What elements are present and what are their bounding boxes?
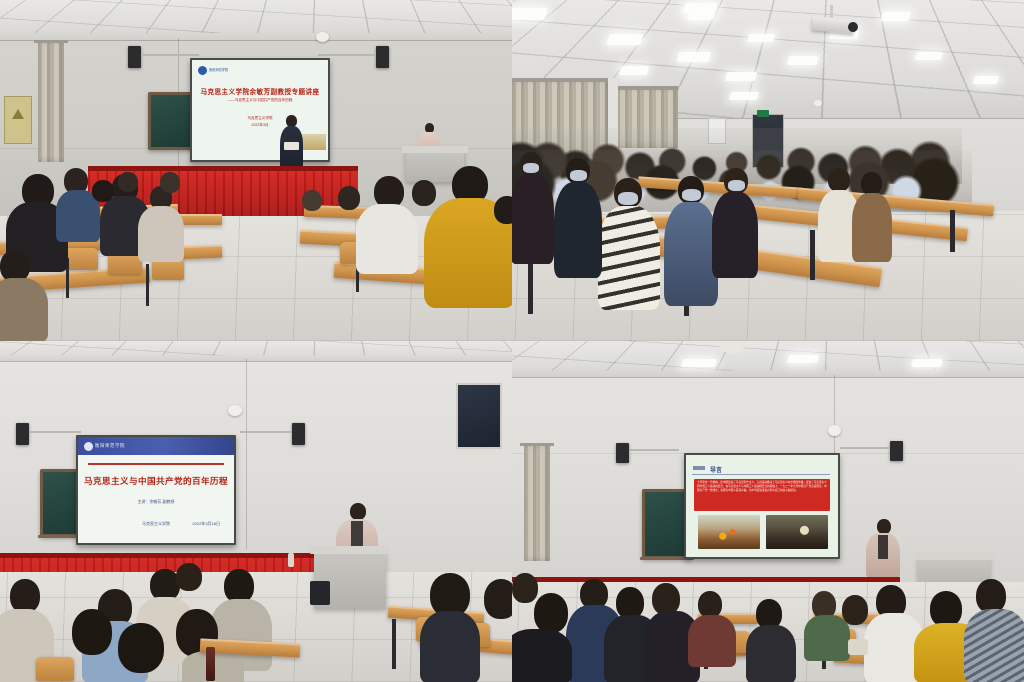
photo-panel-top-right [512,0,1024,341]
student-head [861,172,882,195]
audience-body [746,625,796,682]
speaker-arm-left [29,431,81,433]
ceiling-light [681,359,717,367]
bag-on-floor [310,581,330,605]
photo-panel-bottom-left: 衡阳师范学院 马克思主义与中国共产党的百年历程 主讲：余敏芳 副教授 马克思主义… [0,341,512,682]
face-mask-icon [618,192,638,205]
audience-head-long-hair [72,609,112,655]
photo-panel-top-left: 衡阳师范学院 马克思主义学院余敏芳副教授专题讲座 ——马克思主义与中国共产党的百… [0,0,512,341]
stage-edge [0,553,320,558]
slide-presenter: 主讲：余敏芳 副教授 [78,499,234,505]
ceiling-light [915,52,943,60]
audience-head [118,172,138,192]
wall-speaker-left [128,46,141,68]
ceiling-light [973,76,999,84]
face-mask-icon [682,189,701,201]
lectern-top [310,546,390,554]
slide-red-textbox: 十月革命一声炮响，给中国送来了马克思列宁主义。五四运动推动了马克思主义在中国的传… [694,479,830,511]
lectern-top [914,553,994,560]
dark-window [456,383,502,449]
chair-back [36,657,74,681]
student-body [554,182,602,278]
wall-speaker-left [16,423,29,445]
speaker-arm-right [840,447,890,449]
audience-head [976,579,1006,613]
desk-leg [392,619,396,669]
student-head [828,168,850,192]
audience-head [10,579,40,613]
ceiling-dome-camera [228,405,242,416]
bag-on-desk [848,639,868,655]
ceiling-light [687,12,715,20]
chair-back [64,248,98,270]
slide-image-right [766,515,828,549]
presenter-head [350,503,366,520]
student-body [512,174,554,264]
slide-surface: 导言 十月革命一声炮响，给中国送来了马克思列宁主义。五四运动推动了马克思主义在中… [686,455,838,557]
audience-head [176,563,202,591]
audience-head [512,573,538,603]
audience-head [412,180,436,206]
audience-head [224,569,254,603]
slide-org: 马克思主义学院 [192,116,328,121]
ceiling-light [619,66,650,75]
ceiling-light [787,56,820,65]
projection-screen: 衡阳师范学院 马克思主义学院余敏芳副教授专题讲座 ——马克思主义与中国共产党的百… [190,58,330,162]
wall-speaker-right [292,423,305,445]
slide-surface: 衡阳师范学院 马克思主义学院余敏芳副教授专题讲座 ——马克思主义与中国共产党的百… [192,60,328,160]
ceiling-grid [0,0,512,33]
ceiling-light [911,359,943,367]
warning-triangle-icon [12,109,24,119]
wall-seam [512,377,1024,378]
student-body [664,202,718,306]
audience-body [420,611,480,682]
desk-leg [146,264,149,306]
slide-title: 马克思主义学院余敏芳副教授专题讲座 [192,86,328,96]
ceiling-grid [0,341,512,356]
ceiling-light [677,52,712,62]
front-student-navy [554,158,602,278]
ceiling [0,341,512,361]
audience-head-long-hair [118,623,164,673]
slide-heading-marker [693,466,705,470]
desk-leg [810,230,815,280]
mid-student-brown [852,172,892,262]
chalkboard-surface [645,492,689,556]
slide-image-left [698,515,760,549]
speaker-arm-right [240,431,292,433]
desk-leg [950,210,955,252]
audience-body [138,206,184,262]
ceiling-light [729,92,759,100]
slide-header-text: 衡阳师范学院 [95,443,125,449]
ceiling-dome-camera [316,32,329,42]
audience-head [160,172,180,193]
ceiling-light [881,12,912,21]
slide-surface: 衡阳师范学院 马克思主义与中国共产党的百年历程 主讲：余敏芳 副教授 马克思主义… [78,437,234,543]
wall-seam [0,361,512,362]
front-student-denim [664,176,718,306]
slide-footer-date: 2022年3月18日 [192,521,220,527]
audience-body [804,615,850,661]
face-mask-icon [728,180,745,191]
desk-leg [528,256,533,314]
audience-head [930,591,962,627]
audience-body [512,629,572,682]
university-emblem-icon [84,442,93,451]
audience-body [964,609,1024,682]
front-student-dark [712,168,758,278]
ceiling-light [725,72,758,81]
audience-head [484,579,512,619]
ceiling-light [606,34,643,45]
lectern-top [402,146,468,153]
ceiling-light [747,34,775,42]
student-body [852,193,892,262]
audience-head [92,180,114,202]
presenter-papers [284,142,299,150]
speaker-arm-right [318,54,376,56]
presenter-standing [866,519,900,579]
beige-curtain [38,40,64,162]
projection-screen: 衡阳师范学院 马克思主义与中国共产党的百年历程 主讲：余敏芳 副教授 马克思主义… [76,435,236,545]
audience-body [0,278,48,341]
curtain-rail [520,443,554,446]
audience-body [688,615,736,667]
front-student-maroon [512,152,554,264]
slide-heading: 导言 [710,465,722,474]
wall-seam [0,40,512,41]
slide-subtitle: ——马克思主义与中国共产党的百年历程 [192,98,328,103]
curtain-rail [34,40,68,43]
photo-collage: 衡阳师范学院 马克思主义学院余敏芳副教授专题讲座 ——马克思主义与中国共产党的百… [0,0,1024,682]
presenter-shirt [878,535,888,559]
slide-logo-text: 衡阳师范学院 [209,67,228,72]
university-emblem-icon [198,66,207,75]
beige-curtain [524,443,550,561]
wall-joint [246,359,247,549]
wall-sensor-icon [814,100,822,106]
ceiling-dome-camera [828,425,841,436]
ceiling-light [512,8,548,20]
ceiling-light [787,355,819,363]
audience-head [338,186,360,210]
ceiling [0,0,512,40]
ceiling [512,341,1024,377]
speaker-arm-left [141,54,199,56]
wall-speaker-left [616,443,629,463]
presenter-shirt [351,521,363,547]
audience-head [698,591,722,618]
audience-head-long-hair [534,593,568,633]
thermos-bottle [206,647,215,681]
face-mask-icon [523,163,539,173]
audience-head [494,196,512,224]
speaker-arm-left [629,449,679,451]
presenter-centre [278,115,304,170]
audience-body [356,204,418,274]
slide-date: 2022年3月 [192,123,328,128]
wall-speaker-right [376,46,389,68]
stage-edge [88,166,358,171]
audience-head [842,595,868,625]
fire-cabinet [4,96,32,144]
slide-title: 马克思主义与中国共产党的百年历程 [78,475,234,487]
audience-head [302,190,322,211]
water-bottle [288,553,294,567]
wall-speaker-right [890,441,903,461]
presenter-head [877,519,891,534]
slide-rule [88,463,224,465]
face-mask-icon [570,170,587,181]
exit-sign-icon [757,110,769,117]
projection-screen: 导言 十月革命一声炮响，给中国送来了马克思列宁主义。五四运动推动了马克思主义在中… [684,453,840,559]
student-body [712,192,758,278]
ceiling-grid [512,341,1024,370]
curtain-rail [616,86,678,90]
student-body [598,206,660,310]
slide-heading-rule [692,474,830,475]
front-student-striped [598,178,660,310]
curtain-rail [512,78,608,82]
photo-panel-bottom-right: 导言 十月革命一声炮响，给中国送来了马克思列宁主义。五四运动推动了马克思主义在中… [512,341,1024,682]
